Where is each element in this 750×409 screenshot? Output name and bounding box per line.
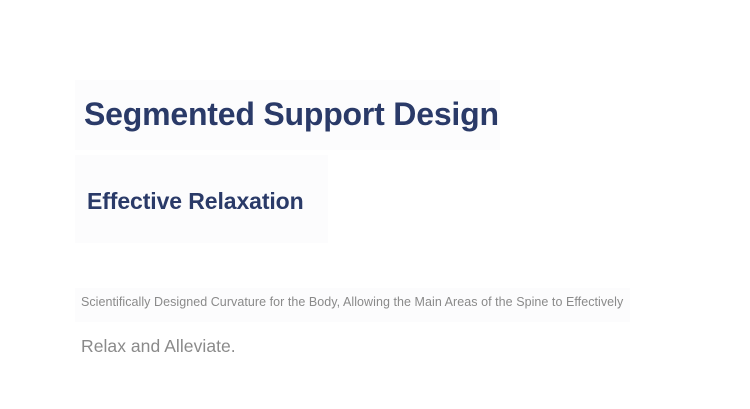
section-subtitle: Effective Relaxation xyxy=(87,185,304,217)
feature-section: Segmented Support Design Effective Relax… xyxy=(0,0,750,409)
body-copy: Scientifically Designed Curvature for th… xyxy=(81,292,701,359)
page-title: Segmented Support Design xyxy=(84,94,499,134)
body-copy-line-2: Relax and Alleviate. xyxy=(81,333,701,359)
body-copy-line-1: Scientifically Designed Curvature for th… xyxy=(81,292,701,312)
